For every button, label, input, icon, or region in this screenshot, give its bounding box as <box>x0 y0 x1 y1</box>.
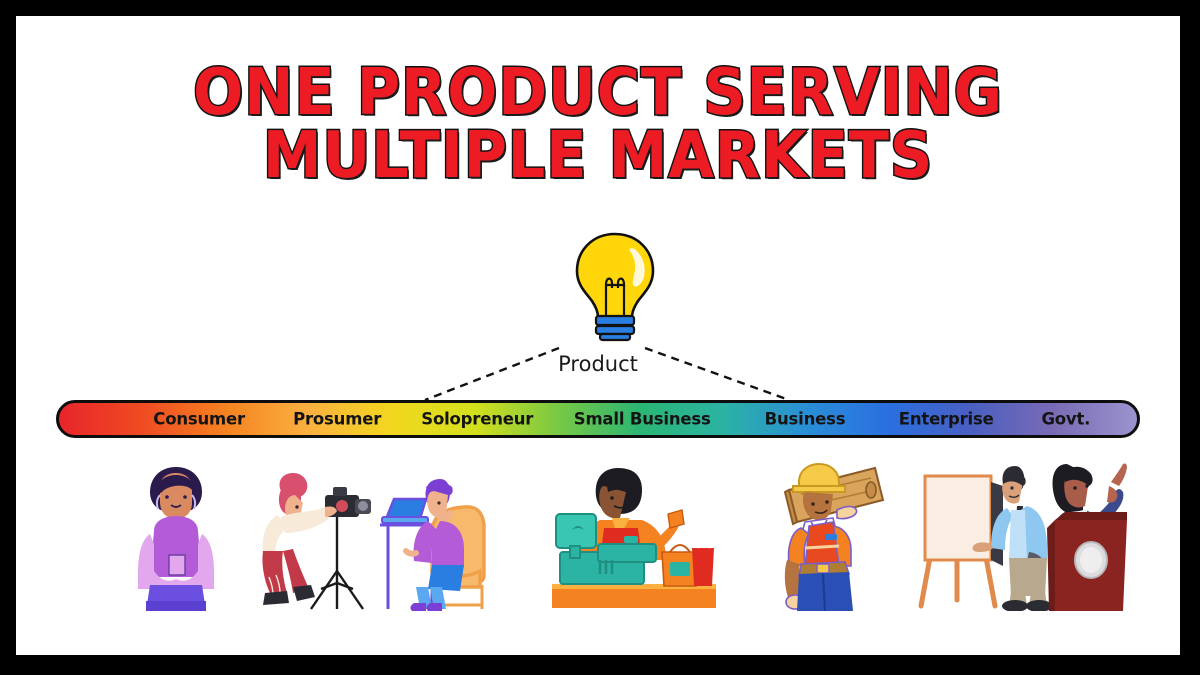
persona-illustrations-row <box>56 446 1140 611</box>
lightbulb-icon <box>560 228 670 343</box>
product-node-label: Product <box>16 352 1180 376</box>
title-line-2: MULTIPLE MARKETS <box>63 125 1134 188</box>
consumer-phone-person <box>116 459 236 611</box>
spectrum-segment-govt[interactable]: Govt. <box>1041 410 1090 429</box>
slide-canvas: ONE PRODUCT SERVING MULTIPLE MARKETS Pro… <box>16 16 1180 655</box>
market-spectrum-bar[interactable]: ConsumerProsumerSolopreneurSmall Busines… <box>56 400 1140 438</box>
spectrum-segment-prosumer[interactable]: Prosumer <box>293 410 381 429</box>
spectrum-segment-small-business[interactable]: Small Business <box>574 410 711 429</box>
business-construction-worker <box>771 456 896 611</box>
spectrum-segment-solopreneur[interactable]: Solopreneur <box>421 410 533 429</box>
government-podium-speaker <box>1031 456 1141 611</box>
solopreneur-laptop-person <box>376 459 526 611</box>
spectrum-segment-business[interactable]: Business <box>765 410 846 429</box>
spectrum-segment-enterprise[interactable]: Enterprise <box>899 410 994 429</box>
title-line-1: ONE PRODUCT SERVING <box>63 62 1134 125</box>
page-title: ONE PRODUCT SERVING MULTIPLE MARKETS <box>16 62 1180 187</box>
small-business-cashier <box>546 456 721 611</box>
prosumer-photographer <box>241 459 376 611</box>
spectrum-segment-consumer[interactable]: Consumer <box>153 410 245 429</box>
